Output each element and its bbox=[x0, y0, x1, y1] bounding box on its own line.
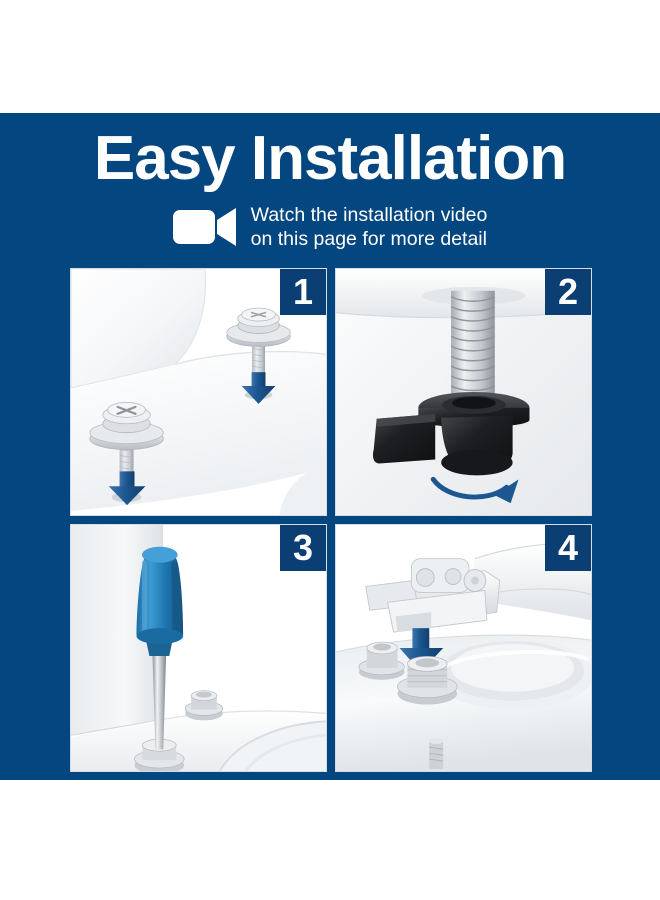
step-number-badge: 3 bbox=[280, 525, 326, 571]
step-panel-4: 4 bbox=[335, 524, 592, 772]
watch-video-row: Watch the installation video on this pag… bbox=[0, 203, 660, 251]
step-panel-2: 2 bbox=[335, 268, 592, 516]
steps-grid: 1 bbox=[70, 268, 592, 772]
step-panel-1: 1 bbox=[70, 268, 327, 516]
bolt-stub bbox=[429, 738, 443, 769]
installation-infographic: Easy Installation Watch the installation… bbox=[0, 0, 660, 900]
step-panel-3: 3 bbox=[70, 524, 327, 772]
step-number-badge: 2 bbox=[545, 269, 591, 315]
page-title: Easy Installation bbox=[0, 126, 660, 191]
bolt-head bbox=[185, 691, 223, 721]
step-number-badge: 1 bbox=[280, 269, 326, 315]
step-number-badge: 4 bbox=[545, 525, 591, 571]
watch-video-text: Watch the installation video on this pag… bbox=[251, 203, 488, 251]
video-camera-icon bbox=[173, 208, 237, 246]
